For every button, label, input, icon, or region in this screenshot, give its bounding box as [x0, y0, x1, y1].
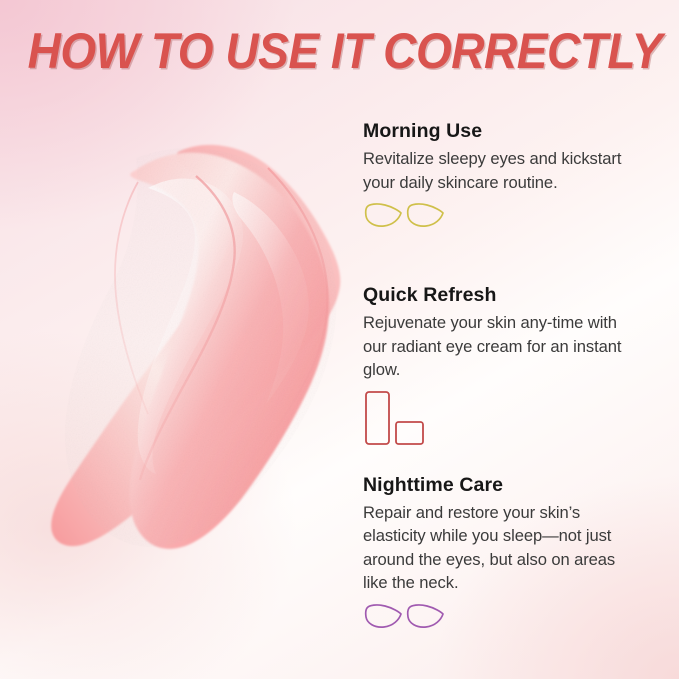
pink-cream-swatch-artwork [28, 118, 364, 554]
step-title: Quick Refresh [363, 282, 633, 308]
section-spacer [363, 464, 633, 472]
eye-patch-pair-icon [363, 602, 633, 642]
step-quick-refresh: Quick Refresh Rejuvenate your skin any-t… [363, 282, 633, 447]
step-title: Morning Use [363, 118, 633, 144]
step-body: Repair and restore your skin’s elasticit… [363, 501, 633, 595]
step-title: Nighttime Care [363, 472, 633, 498]
step-morning-use: Morning Use Revitalize sleepy eyes and k… [363, 118, 633, 241]
poster-canvas: How to use it correctly [0, 0, 679, 679]
step-body: Rejuvenate your skin any-time with our r… [363, 311, 633, 382]
section-spacer [363, 258, 633, 282]
page-title-text: How to use it correctly [28, 22, 662, 80]
eye-patch-pair-icon [363, 201, 633, 241]
step-nighttime-care: Nighttime Care Repair and restore your s… [363, 472, 633, 642]
cream-tube-icon [363, 389, 633, 447]
step-body: Revitalize sleepy eyes and kickstart you… [363, 147, 633, 194]
steps-column: Morning Use Revitalize sleepy eyes and k… [363, 118, 633, 642]
page-title: How to use it correctly [0, 22, 679, 80]
